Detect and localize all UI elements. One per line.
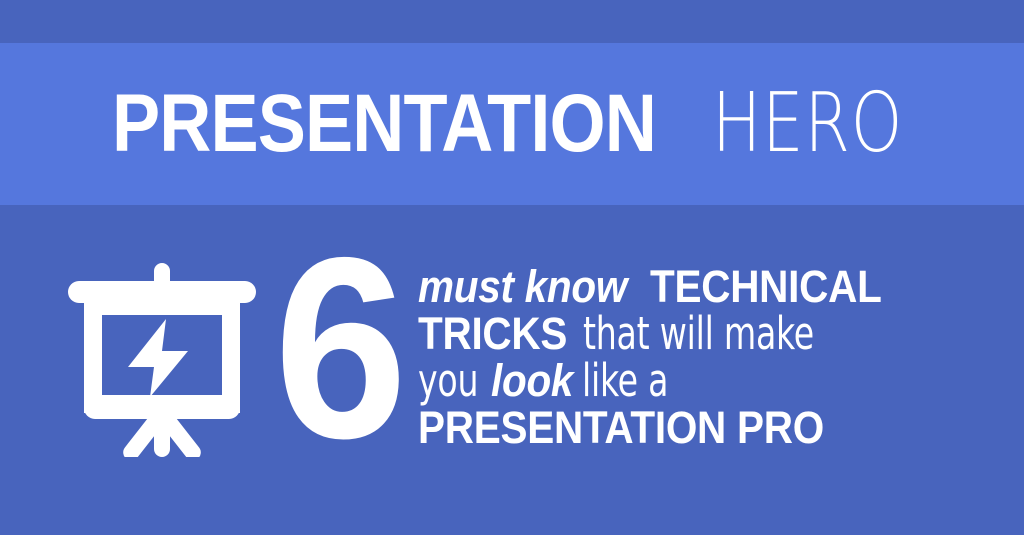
headline-block: must know TECHNICAL TRICKS that will mak… [418,263,1024,451]
brand-word-presentation: PRESENTATION [112,83,656,165]
presentation-screen-lightning-icon [62,257,262,457]
headline-segment: TECHNICAL [650,263,882,310]
numeral-block: 6 [274,247,412,448]
headline-segment: you [418,357,478,404]
headline-line-3: you look like a [418,357,1024,404]
headline-segment: look [491,357,573,404]
headline-segment: must know [418,263,627,310]
content-row: 6 must know TECHNICAL TRICKS that will m… [0,205,1024,535]
headline-segment: like a [582,357,668,404]
headline-segment: that will make [583,310,814,357]
promo-banner: PRESENTATIONHERO 6 must know TECHNICAL T… [0,0,1024,535]
headline-segment: PRESENTATION PRO [418,404,824,451]
headline-line-2: TRICKS that will make [418,310,1024,357]
headline-numeral: 6 [274,247,402,448]
header-band: PRESENTATIONHERO [0,43,1024,205]
headline-segment: TRICKS [418,310,567,357]
headline-line-1: must know TECHNICAL [418,263,1024,310]
headline-line-4: PRESENTATION PRO [418,404,1024,451]
brand-word-hero: HERO [712,83,903,165]
brand-title: PRESENTATIONHERO [112,83,951,165]
